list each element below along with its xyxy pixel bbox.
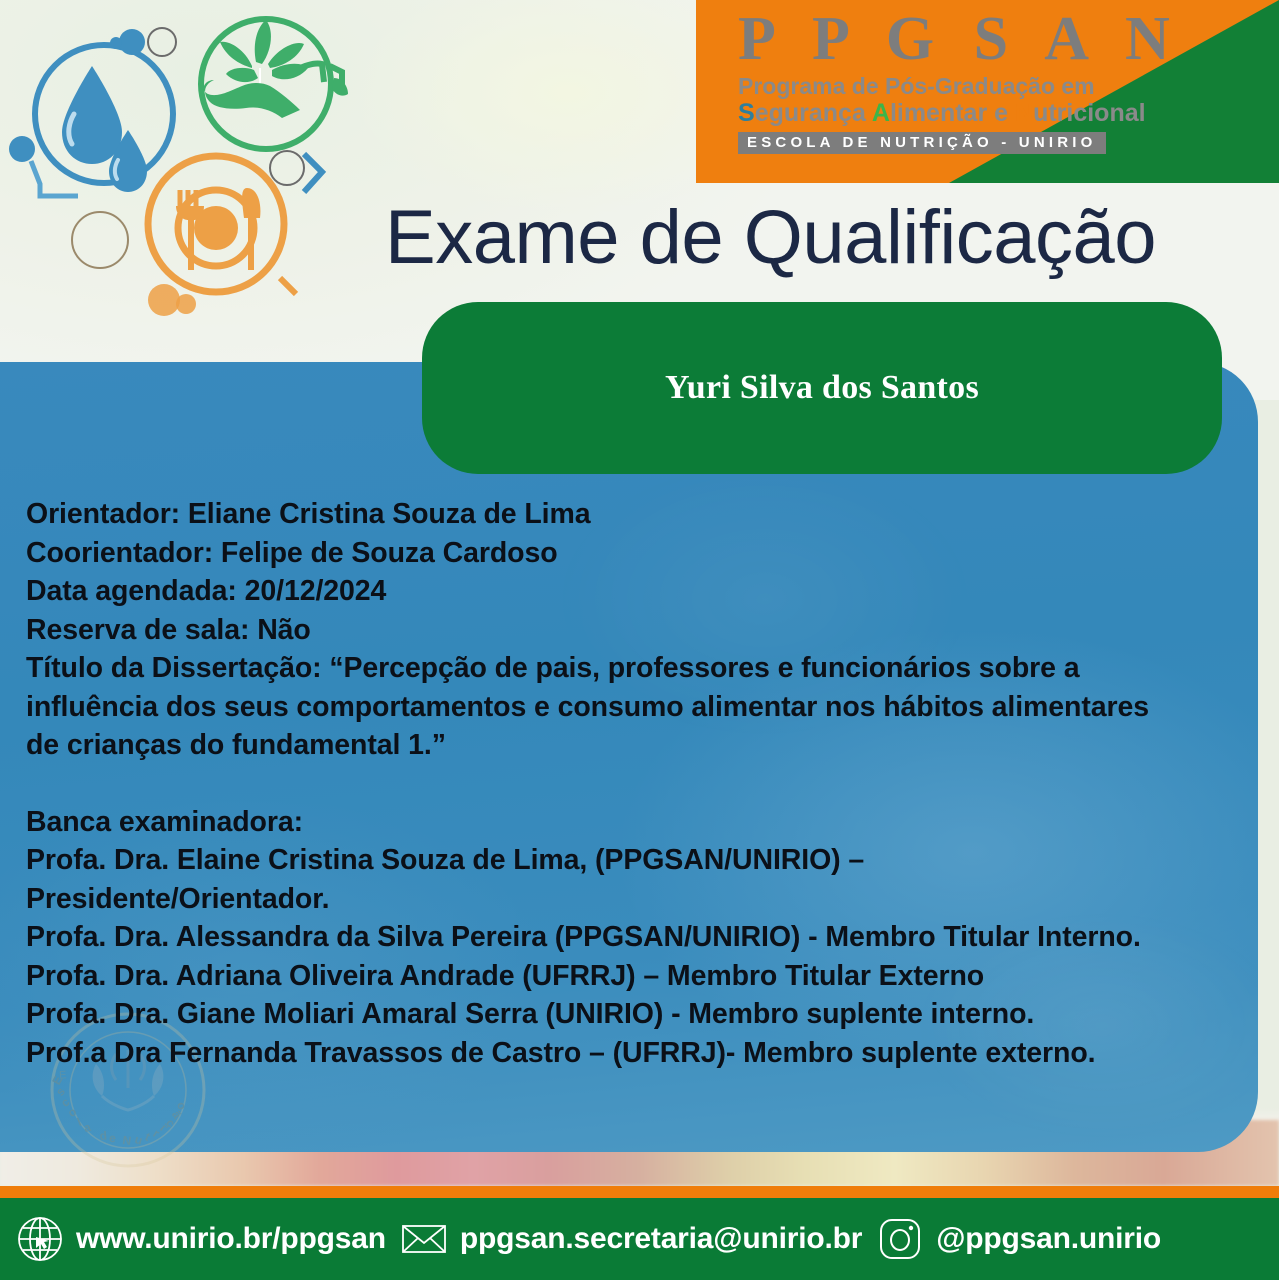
hand-icon: [204, 80, 300, 118]
ppgsan-subtitle-line2: Segurança Alimentar e Nutricional: [738, 99, 1126, 127]
globe-icon: [16, 1215, 64, 1263]
detail-titulo-line-1: Título da Dissertação: “Percepção de pai…: [26, 649, 1251, 688]
svg-text:u: u: [133, 1132, 144, 1147]
ppgsan-n-letter: N: [1015, 99, 1033, 127]
node-dot-icon: [9, 136, 35, 162]
svg-text:N: N: [122, 1133, 133, 1148]
banca-member-line: Profa. Dra. Alessandra da Silva Pereira …: [26, 918, 1251, 957]
student-name: Yuri Silva dos Santos: [665, 369, 979, 407]
banca-heading: Banca examinadora:: [26, 803, 1251, 842]
footer-orange-stripe: [0, 1186, 1279, 1198]
envelope-icon: [400, 1215, 448, 1263]
ring-icon-3: [72, 212, 128, 268]
footer-website-item[interactable]: www.unirio.br/ppgsan: [16, 1215, 386, 1263]
detail-orientador: Orientador: Eliane Cristina Souza de Lim…: [26, 495, 1251, 534]
instagram-icon: [876, 1215, 924, 1263]
banca-member-line: Profa. Dra. Elaine Cristina Souza de Lim…: [26, 841, 1251, 880]
ppgsan-escola-badge: ESCOLA DE NUTRIÇÃO - UNIRIO: [738, 132, 1106, 154]
banca-member-line: Profa. Dra. Adriana Oliveira Andrade (UF…: [26, 957, 1251, 996]
ring-icon-1: [148, 28, 176, 56]
detail-titulo-line-2: influência dos seus comportamentos e con…: [26, 688, 1251, 727]
detail-reserva-sala: Reserva de sala: Não: [26, 611, 1251, 650]
svg-text:d: d: [99, 1128, 108, 1143]
bubble-icon: [119, 29, 145, 55]
banca-member-line: Prof.a Dra Fernanda Travassos de Castro …: [26, 1034, 1251, 1073]
detail-data-agendada: Data agendada: 20/12/2024: [26, 572, 1251, 611]
ppgsan-acronym: P P G S A N: [738, 6, 1126, 72]
footer-instagram-text: @ppgsan.unirio: [936, 1222, 1161, 1256]
footer-email-item[interactable]: ppgsan.secretaria@unirio.br: [400, 1215, 862, 1263]
ppgsan-s-letter: S: [738, 99, 755, 127]
ppgsan-a-letter: A: [872, 99, 890, 127]
footer-email-text: ppgsan.secretaria@unirio.br: [460, 1222, 862, 1256]
ppgsan-logo-banner: P P G S A N Programa de Pós-Graduação em…: [696, 0, 1279, 183]
footer-website-text: www.unirio.br/ppgsan: [76, 1222, 386, 1256]
ppgsan-nutricional-text: utricional: [1033, 99, 1146, 127]
block-spacer: [26, 765, 1251, 803]
svg-text:a: a: [82, 1120, 92, 1135]
details-block: Orientador: Eliane Cristina Souza de Lim…: [26, 495, 1251, 1072]
footer-bar: www.unirio.br/ppgsan ppgsan.secretaria@u…: [0, 1198, 1279, 1280]
ppgsan-subtitle-line1: Programa de Pós-Graduação em: [738, 73, 1126, 99]
detail-coorientador: Coorientador: Felipe de Souza Cardoso: [26, 534, 1251, 573]
bubble-small-icon: [110, 37, 122, 49]
banca-member-line: Profa. Dra. Giane Moliari Amaral Serra (…: [26, 995, 1251, 1034]
svg-text:e: e: [109, 1131, 116, 1145]
ring-icon-2: [270, 151, 304, 185]
san-icon-cluster: [4, 6, 354, 336]
footer-instagram-item[interactable]: @ppgsan.unirio: [876, 1215, 1161, 1263]
ppgsan-seguranca-text: egurança: [755, 99, 872, 127]
ppgsan-alimentar-text: limentar e: [890, 99, 1015, 127]
page-title: Exame de Qualificação: [385, 196, 1255, 280]
student-name-pill: Yuri Silva dos Santos: [422, 302, 1222, 474]
banca-member-line: Presidente/Orientador.: [26, 880, 1251, 919]
poster-root: P P G S A N Programa de Pós-Graduação em…: [0, 0, 1279, 1280]
detail-titulo-line-3: de crianças do fundamental 1.”: [26, 726, 1251, 765]
